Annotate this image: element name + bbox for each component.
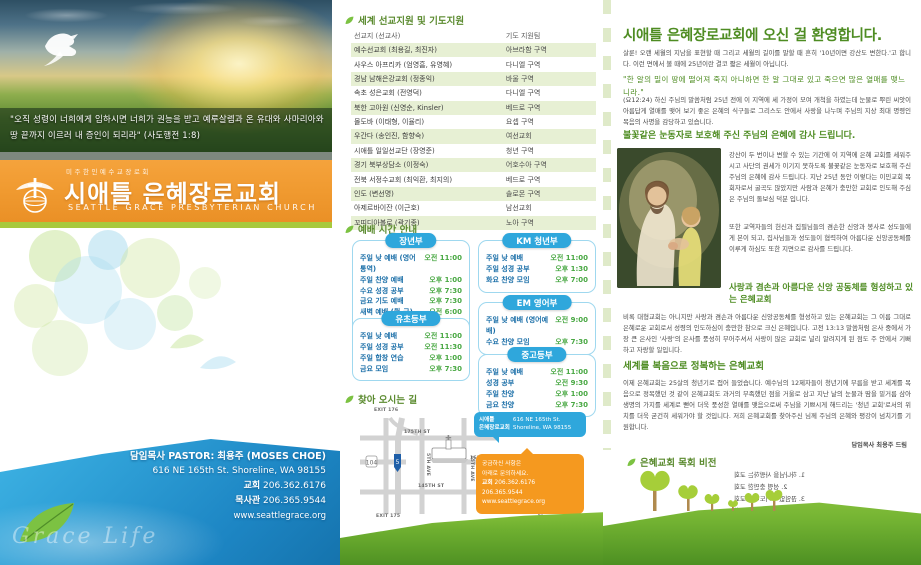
schedule-label: 주일 낮 예배 bbox=[486, 367, 523, 378]
schedule-rows: 주일 낮 예배 (영어예배)오전 9:00수요 찬양 모임오후 7:30 bbox=[486, 315, 588, 348]
highlight-gratitude: 불꽃같은 눈동자로 보호해 주신 주님의 은혜에 감사 드립니다. bbox=[623, 128, 911, 141]
schedule-row: 주일 낮 예배 (영어통역)오전 11:00 bbox=[360, 253, 462, 275]
schedule-label: 주일 낮 예배 (영어통역) bbox=[360, 253, 419, 275]
website-link[interactable]: www.seattlegrace.org bbox=[86, 509, 326, 523]
schedule-time: 오후 7:00 bbox=[550, 275, 588, 286]
schedule-label: 수요 성경 공부 bbox=[360, 286, 404, 297]
schedule-rows: 주일 낮 예배오전 11:00주일 성경 공부오전 11:30주일 합창 연습오… bbox=[360, 331, 462, 374]
table-row: 속초 성은교회 (전영덕)다니엘 구역 bbox=[351, 86, 596, 100]
highlight-world-gospel: 세계를 복음으로 정복하는 은혜교회 bbox=[623, 358, 911, 372]
parsonage-phone-line: 목사관 206.365.9544 bbox=[86, 494, 326, 509]
schedule-label: 수요 찬양 모임 bbox=[486, 337, 530, 348]
leaf-bullet-icon bbox=[345, 395, 354, 404]
pastor-signature: 담임목사 최용주 드림 bbox=[851, 440, 907, 449]
svg-text:5: 5 bbox=[396, 459, 400, 466]
schedule-row: 주일 낮 예배오전 11:00 bbox=[486, 367, 588, 378]
schedule-time: 오후 7:30 bbox=[424, 364, 462, 375]
schedule-row: 수요 찬양 모임오후 7:30 bbox=[486, 337, 588, 348]
schedule-row: 주일 낮 예배오전 11:00 bbox=[360, 331, 462, 342]
table-row: 사우스 아프리카 (엄영흠, 유영혜)다니엘 구역 bbox=[351, 57, 596, 71]
prayer-team-cell: 베드로 구역 bbox=[503, 172, 596, 186]
col-field: 선교지 (선교사) bbox=[351, 28, 503, 43]
schedule-time: 오후 1:00 bbox=[424, 275, 462, 286]
inquiry-parsonage-number: 206.365.9544 bbox=[482, 490, 523, 496]
schedule-box-km-young-adult: KM 청년부 주일 낮 예배오전 11:00주일 성경 공부오후 1:30화요 … bbox=[478, 240, 596, 293]
prayer-team-cell: 베드로 구역 bbox=[503, 101, 596, 115]
schedule-box-children: 유초등부 주일 낮 예배오전 11:00주일 성경 공부오전 11:30주일 합… bbox=[352, 318, 470, 381]
dove-icon bbox=[38, 25, 86, 69]
bokeh-bubbles bbox=[0, 228, 340, 458]
mission-field-cell: 경기 북부상담소 (이정숙) bbox=[351, 158, 503, 172]
jesus-with-child-image bbox=[617, 148, 721, 288]
table-row: 아제르바이잔 (이근호)남선교회 bbox=[351, 201, 596, 215]
inquiry-church-label: 교회 bbox=[482, 480, 493, 486]
schedule-label: 성경 공부 bbox=[486, 378, 514, 389]
schedule-label: 주일 낮 예배 (영어예배) bbox=[486, 315, 550, 337]
prayer-team-cell: 아브라함 구역 bbox=[503, 43, 596, 57]
decorative-script: Grace Life bbox=[12, 524, 158, 549]
schedule-row: 주일 성경 공부오전 11:30 bbox=[360, 342, 462, 353]
mission-field-cell: 인도 (변선명) bbox=[351, 187, 503, 201]
table-row: 예수선교회 (최용길, 최진자)아브라함 구역 bbox=[351, 43, 596, 57]
mission-heading-text: 세계 선교지원 및 기도지원 bbox=[358, 13, 464, 27]
scripture-verse: "오직 성령이 너희에게 임하시면 너희가 권능을 받고 예루살렘과 온 유대와… bbox=[10, 112, 325, 144]
left-panel: "오직 성령이 너희에게 임하시면 너희가 권능을 받고 예루살렘과 온 유대와… bbox=[0, 0, 340, 565]
schedule-time: 오후 7:30 bbox=[424, 286, 462, 297]
welcome-paragraph-2: (요12:24) 하신 주님의 말씀처럼 25년 전에 이 지역에 세 가정이 … bbox=[623, 95, 911, 128]
mission-table: 선교지 (선교사) 기도 지원팀 예수선교회 (최용길, 최진자)아브라함 구역… bbox=[351, 28, 596, 230]
pastor-line: 담임목사 PASTOR: 최용주 (MOSES CHOE) bbox=[86, 449, 326, 465]
map-label-15th-ave: 15TH AVE bbox=[469, 455, 474, 482]
schedule-label: 금요 모임 bbox=[360, 364, 388, 375]
schedule-time: 오전 9:30 bbox=[550, 378, 588, 389]
church-name-english: SEATTLE GRACE PRESBYTERIAN CHURCH bbox=[68, 203, 317, 212]
map-label-145th: 145TH ST bbox=[418, 484, 444, 489]
church-location-callout: 시애틀 은혜장로교회 616 NE 165th St. Shoreline, W… bbox=[474, 412, 586, 437]
map-label-175th: 175TH ST bbox=[404, 430, 430, 435]
heart-tree-icons bbox=[631, 459, 791, 519]
parsonage-phone: 206.365.9544 bbox=[263, 496, 326, 506]
schedule-label: 주일 낮 예배 bbox=[486, 253, 523, 264]
schedule-row: 주일 낮 예배 (영어예배)오전 9:00 bbox=[486, 315, 588, 337]
mission-table-header-row: 선교지 (선교사) 기도 지원팀 bbox=[351, 28, 596, 43]
welcome-paragraph-1: 살룬! 오랜 세월의 지남을 표현할 때 그리고 세월의 길이를 말할 때 흔히… bbox=[623, 48, 911, 70]
brochure: "오직 성령이 너희에게 임하시면 너희가 권능을 받고 예루살렘과 온 유대와… bbox=[0, 0, 921, 565]
schedule-row: 주일 성경 공부오후 1:30 bbox=[486, 264, 588, 275]
schedule-row: 금요 기도 예배오후 7:30 bbox=[360, 296, 462, 307]
table-row: 인도 (변선명)솔로몬 구역 bbox=[351, 187, 596, 201]
schedule-label: 주일 성경 공부 bbox=[360, 342, 404, 353]
prayer-team-cell: 다니엘 구역 bbox=[503, 86, 596, 100]
mission-field-cell: 사우스 아프리카 (엄영흠, 유영혜) bbox=[351, 57, 503, 71]
prayer-team-cell: 다니엘 구역 bbox=[503, 57, 596, 71]
schedule-row: 성경 공부오전 9:30 bbox=[486, 378, 588, 389]
callout-church-name: 시애틀 은혜장로교회 bbox=[479, 416, 510, 433]
map-label-exit175: EXIT 175 bbox=[376, 514, 400, 519]
callout-church-address: 616 NE 165th St. Shoreline, WA 98155 bbox=[513, 416, 571, 433]
schedule-time: 오전 11:00 bbox=[545, 253, 588, 264]
schedule-rows: 주일 낮 예배오전 11:00주일 성경 공부오후 1:30화요 찬양 모임오후… bbox=[486, 253, 588, 286]
table-row: 우간다 (송인진, 함향숙)여선교회 bbox=[351, 129, 596, 143]
schedule-time: 오전 11:00 bbox=[419, 331, 462, 342]
mission-table-body: 예수선교회 (최용길, 최진자)아브라함 구역사우스 아프리카 (엄영흠, 유영… bbox=[351, 43, 596, 230]
table-row: 몰도바 (이태형, 이율리)요셉 구역 bbox=[351, 115, 596, 129]
mission-field-cell: 몰도바 (이태형, 이율리) bbox=[351, 115, 503, 129]
contact-info: 담임목사 PASTOR: 최용주 (MOSES CHOE) 616 NE 165… bbox=[86, 449, 326, 523]
church-phone-line: 교회 206.362.6176 bbox=[86, 479, 326, 494]
schedule-time: 오후 1:00 bbox=[424, 353, 462, 364]
schedule-row: 주일 찬양오후 1:00 bbox=[486, 389, 588, 400]
schedule-row: 주일 찬양 예배오후 1:00 bbox=[360, 275, 462, 286]
mission-field-cell: 시애틀 일일선교단 (장영준) bbox=[351, 144, 503, 158]
schedule-time: 오전 11:00 bbox=[419, 253, 462, 275]
svg-text:104: 104 bbox=[366, 460, 378, 467]
welcome-paragraph-4: 또한 교역자들의 헌신과 집필님들의 겸손한 신앙과 봉사로 성도들에게 본이 … bbox=[729, 222, 911, 255]
inquiry-line1: 궁금하신 사항은 bbox=[482, 460, 578, 470]
schedule-time: 오전 11:30 bbox=[419, 342, 462, 353]
prayer-team-cell: 노아 구역 bbox=[503, 216, 596, 230]
prayer-team-cell: 남선교회 bbox=[503, 201, 596, 215]
table-row: 북한 고아원 (신영순, Kinsler)베드로 구역 bbox=[351, 101, 596, 115]
inquiry-callout: 궁금하신 사항은 아래로 문의하세요. 교회 206.362.6176 206.… bbox=[476, 454, 584, 514]
table-row: 경기 북부상담소 (이정숙)어호수아 구역 bbox=[351, 158, 596, 172]
parsonage-label: 목사관 bbox=[235, 496, 260, 506]
col-prayer-team: 기도 지원팀 bbox=[503, 28, 596, 43]
prayer-team-cell: 요셉 구역 bbox=[503, 115, 596, 129]
schedule-row: 금요 모임오후 7:30 bbox=[360, 364, 462, 375]
church-address: 616 NE 165th St. Shoreline, WA 98155 bbox=[86, 464, 326, 479]
schedule-label: 주일 찬양 예배 bbox=[360, 275, 404, 286]
schedule-title: 장년부 bbox=[385, 233, 436, 248]
schedule-time: 오후 1:00 bbox=[550, 389, 588, 400]
mission-field-cell: 속초 성은교회 (전영덕) bbox=[351, 86, 503, 100]
schedule-time: 오전 11:00 bbox=[545, 367, 588, 378]
inquiry-website[interactable]: www.seattlegrace.org bbox=[482, 498, 578, 508]
schedule-label: 주일 성경 공부 bbox=[486, 264, 530, 275]
schedule-time: 오후 7:30 bbox=[550, 337, 588, 348]
welcome-paragraph-5: 비록 대형교회는 아니지만 사랑과 겸손과 아름다운 신앙공동체를 형성하고 있… bbox=[623, 312, 911, 356]
inquiry-church-number: 206.362.6176 bbox=[495, 480, 536, 486]
jesus-illustration bbox=[617, 148, 721, 288]
schedule-row: 주일 낮 예배오전 11:00 bbox=[486, 253, 588, 264]
church-phone: 206.362.6176 bbox=[263, 481, 326, 491]
schedule-row: 주일 합창 연습오후 1:00 bbox=[360, 353, 462, 364]
church-logo-icon bbox=[14, 172, 56, 214]
inquiry-parsonage-phone: 206.365.9544 bbox=[482, 489, 578, 499]
prayer-team-cell: 어호수아 구역 bbox=[503, 158, 596, 172]
schedule-label: 화요 찬양 모임 bbox=[486, 275, 530, 286]
mission-field-cell: 아제르바이잔 (이근호) bbox=[351, 201, 503, 215]
mission-field-cell: 경남 남해은강교회 (정종익) bbox=[351, 72, 503, 86]
mission-field-cell: 예수선교회 (최용길, 최진자) bbox=[351, 43, 503, 57]
schedule-label: 주일 합창 연습 bbox=[360, 353, 404, 364]
schedule-time: 오전 9:00 bbox=[550, 315, 588, 337]
prayer-team-cell: 바울 구역 bbox=[503, 72, 596, 86]
table-row: 경남 남해은강교회 (정종익)바울 구역 bbox=[351, 72, 596, 86]
prayer-team-cell: 여선교회 bbox=[503, 129, 596, 143]
schedule-time: 오후 7:30 bbox=[424, 296, 462, 307]
prayer-team-cell: 청년 구역 bbox=[503, 144, 596, 158]
schedule-title: 중고등부 bbox=[507, 347, 566, 362]
table-row: 시애틀 일일선교단 (장영준)청년 구역 bbox=[351, 144, 596, 158]
schedule-row: 수요 성경 공부오후 7:30 bbox=[360, 286, 462, 297]
prayer-team-cell: 솔로몬 구역 bbox=[503, 187, 596, 201]
inquiry-church-phone: 교회 206.362.6176 bbox=[482, 479, 578, 489]
schedule-label: 금요 기도 예배 bbox=[360, 296, 404, 307]
leaf-bullet-icon bbox=[345, 225, 354, 234]
mission-field-cell: 우간다 (송인진, 함향숙) bbox=[351, 129, 503, 143]
pastor-label: 담임목사 PASTOR: bbox=[130, 451, 214, 462]
mission-field-cell: 북한 고아원 (신영순, Kinsler) bbox=[351, 101, 503, 115]
welcome-paragraph-6: 이제 은혜교회는 25살의 청년기로 접어 들었습니다. 예수님의 12제자들이… bbox=[623, 378, 911, 433]
location-map[interactable]: 104 5 EXIT 176 175TH ST 145TH ST bbox=[346, 404, 598, 524]
leaf-bullet-icon bbox=[345, 16, 354, 25]
edge-pattern bbox=[603, 0, 611, 450]
schedule-row: 화요 찬양 모임오후 7:00 bbox=[486, 275, 588, 286]
church-phone-label: 교회 bbox=[244, 481, 261, 491]
right-panel: 시애틀 은혜장로교회에 오신 걸 환영합니다. 살룬! 오랜 세월의 지남을 표… bbox=[603, 0, 921, 565]
schedule-label: 주일 낮 예배 bbox=[360, 331, 397, 342]
schedule-title: EM 영어부 bbox=[503, 295, 572, 310]
mission-section-header: 세계 선교지원 및 기도지원 bbox=[345, 13, 464, 27]
welcome-title: 시애틀 은혜장로교회에 오신 걸 환영합니다. bbox=[623, 24, 913, 45]
map-label-5th-ave: 5TH AVE bbox=[425, 453, 430, 476]
highlight-community: 사랑과 겸손과 아름다운 신앙 공동체를 형성하고 있는 은혜교회 bbox=[729, 282, 915, 307]
mission-field-cell: 전북 서정수교회 (최익환, 최지의) bbox=[351, 172, 503, 186]
schedule-title: 유초등부 bbox=[381, 311, 440, 326]
welcome-paragraph-3: 강산이 두 번이나 변할 수 있는 기간에 이 지역에 은혜 교회를 세워주시고… bbox=[729, 150, 911, 205]
schedule-label: 주일 찬양 bbox=[486, 389, 514, 400]
pastor-name: 최용주 (MOSES CHOE) bbox=[217, 451, 326, 462]
map-label-exit176: EXIT 176 bbox=[374, 408, 398, 413]
inquiry-line2: 아래로 문의하세요. bbox=[482, 470, 578, 480]
schedule-title: KM 청년부 bbox=[502, 233, 571, 248]
table-row: 전북 서정수교회 (최익환, 최지의)베드로 구역 bbox=[351, 172, 596, 186]
middle-panel: 세계 선교지원 및 기도지원 선교지 (선교사) 기도 지원팀 예수선교회 (최… bbox=[340, 0, 603, 565]
left-lower-section: Grace Life 담임목사 PASTOR: 최용주 (MOSES CHOE)… bbox=[0, 228, 340, 565]
schedule-time: 오후 1:30 bbox=[550, 264, 588, 275]
